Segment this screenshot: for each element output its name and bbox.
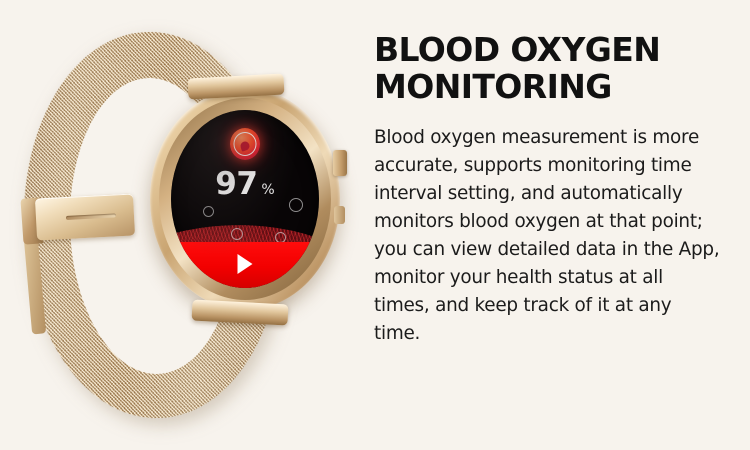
feature-description: Blood oxygen measurement is more accurat… (374, 124, 722, 348)
watch-screen[interactable]: 97% (171, 110, 319, 288)
spo2-reading-unit: % (261, 182, 274, 198)
wave-bubble (289, 198, 303, 212)
spo2-reading-value: 97 (215, 166, 257, 202)
watch-side-button[interactable] (334, 206, 345, 224)
page-title: BLOOD OXYGEN MONITORING (374, 32, 722, 106)
wave-bubble (231, 228, 243, 240)
smartwatch-product-image: 97% (0, 0, 360, 450)
watch-crown-button[interactable] (333, 150, 347, 176)
blood-drop-icon (230, 128, 260, 160)
watch-band-clasp (35, 193, 135, 240)
play-triangle-icon (238, 254, 253, 274)
blood-oxygen-feature-banner: 97% BLOOD OXYGEN MONITORING Blood oxygen… (0, 0, 750, 450)
wave-bubble (203, 206, 214, 217)
watch-case: 97% (150, 88, 340, 310)
spo2-reading: 97% (171, 166, 319, 202)
measure-start-button[interactable] (171, 242, 319, 288)
feature-copy-block: BLOOD OXYGEN MONITORING Blood oxygen mea… (374, 32, 722, 348)
